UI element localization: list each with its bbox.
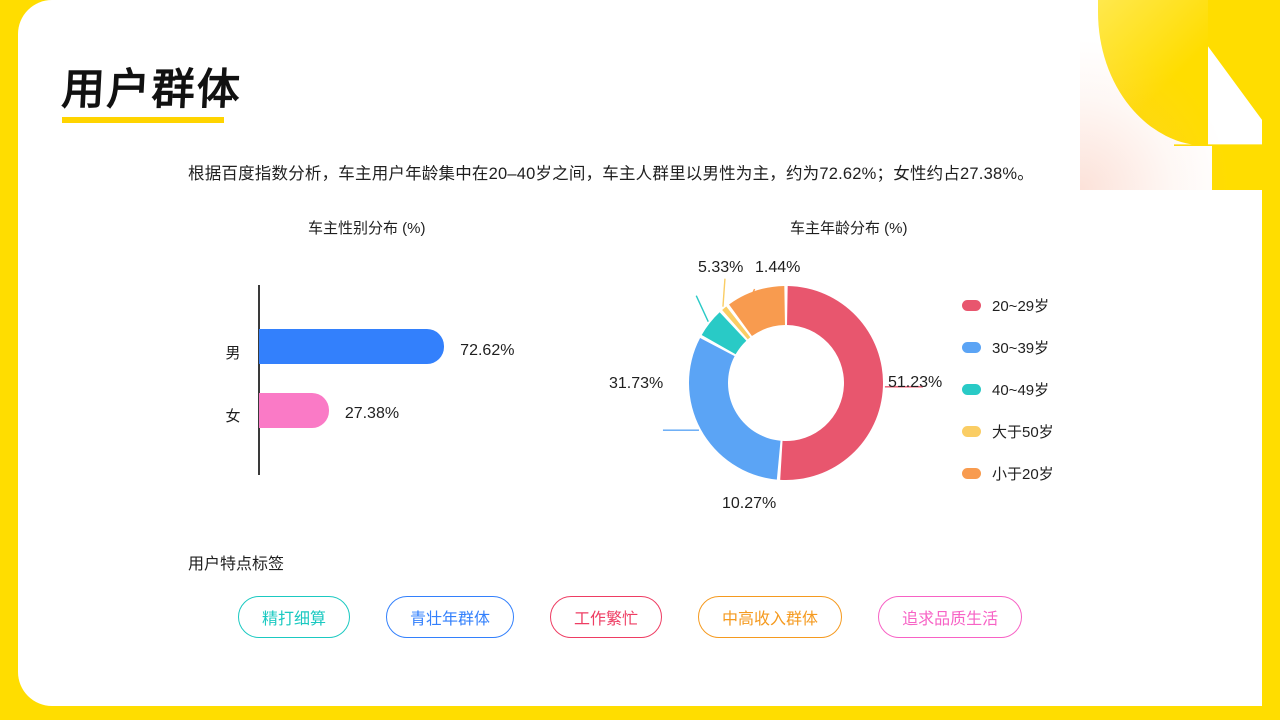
donut-slices xyxy=(689,286,883,480)
donut-leader-line xyxy=(723,279,725,307)
bar-female xyxy=(259,393,329,428)
legend-label: 大于50岁 xyxy=(992,421,1054,442)
user-trait-tag[interactable]: 中高收入群体 xyxy=(698,596,842,638)
legend-swatch-icon xyxy=(962,426,981,437)
bar-category-label-male: 男 xyxy=(218,342,248,363)
legend-swatch-icon xyxy=(962,384,981,395)
donut-slice xyxy=(689,338,781,480)
title-underline xyxy=(62,117,224,123)
donut-legend: 20~29岁30~39岁40~49岁大于50岁小于20岁 xyxy=(962,295,1054,484)
bar-chart-title: 车主性别分布 (%) xyxy=(308,217,426,238)
donut-chart-title: 车主年龄分布 (%) xyxy=(790,217,908,238)
legend-label: 40~49岁 xyxy=(992,379,1049,400)
bar-male xyxy=(259,329,444,364)
legend-item[interactable]: 20~29岁 xyxy=(962,295,1054,316)
legend-item[interactable]: 小于20岁 xyxy=(962,463,1054,484)
legend-swatch-icon xyxy=(962,468,981,479)
donut-value-40-49: 5.33% xyxy=(698,259,743,277)
donut-leader-line xyxy=(696,296,708,322)
legend-item[interactable]: 40~49岁 xyxy=(962,379,1054,400)
legend-item[interactable]: 30~39岁 xyxy=(962,337,1054,358)
donut-slice xyxy=(780,286,883,480)
donut-value-under-20: 10.27% xyxy=(722,495,776,513)
donut-value-over-50: 1.44% xyxy=(755,259,800,277)
page-title: 用户群体 xyxy=(60,55,243,117)
tags-row: 精打细算青壮年群体工作繁忙中高收入群体追求品质生活 xyxy=(238,596,1022,638)
user-trait-tag[interactable]: 青壮年群体 xyxy=(386,596,514,638)
legend-label: 20~29岁 xyxy=(992,295,1049,316)
bar-value-male: 72.62% xyxy=(460,342,514,360)
legend-swatch-icon xyxy=(962,342,981,353)
bar-chart-axis xyxy=(258,285,260,475)
donut-slice xyxy=(729,286,785,336)
donut-value-30-39: 31.73% xyxy=(609,375,663,393)
bar-value-female: 27.38% xyxy=(345,405,399,423)
legend-label: 30~39岁 xyxy=(992,337,1049,358)
lead-paragraph: 根据百度指数分析，车主用户年龄集中在20–40岁之间，车主人群里以男性为主，约为… xyxy=(188,160,1034,184)
donut-value-20-29: 51.23% xyxy=(888,374,942,392)
legend-label: 小于20岁 xyxy=(992,463,1054,484)
bar-category-label-female: 女 xyxy=(218,405,248,426)
gender-bar-chart: 男 72.62% 女 27.38% xyxy=(190,250,610,480)
user-trait-tag[interactable]: 精打细算 xyxy=(238,596,350,638)
user-trait-tag[interactable]: 追求品质生活 xyxy=(878,596,1022,638)
legend-swatch-icon xyxy=(962,300,981,311)
user-trait-tag[interactable]: 工作繁忙 xyxy=(550,596,662,638)
tags-heading: 用户特点标签 xyxy=(188,550,284,574)
legend-item[interactable]: 大于50岁 xyxy=(962,421,1054,442)
